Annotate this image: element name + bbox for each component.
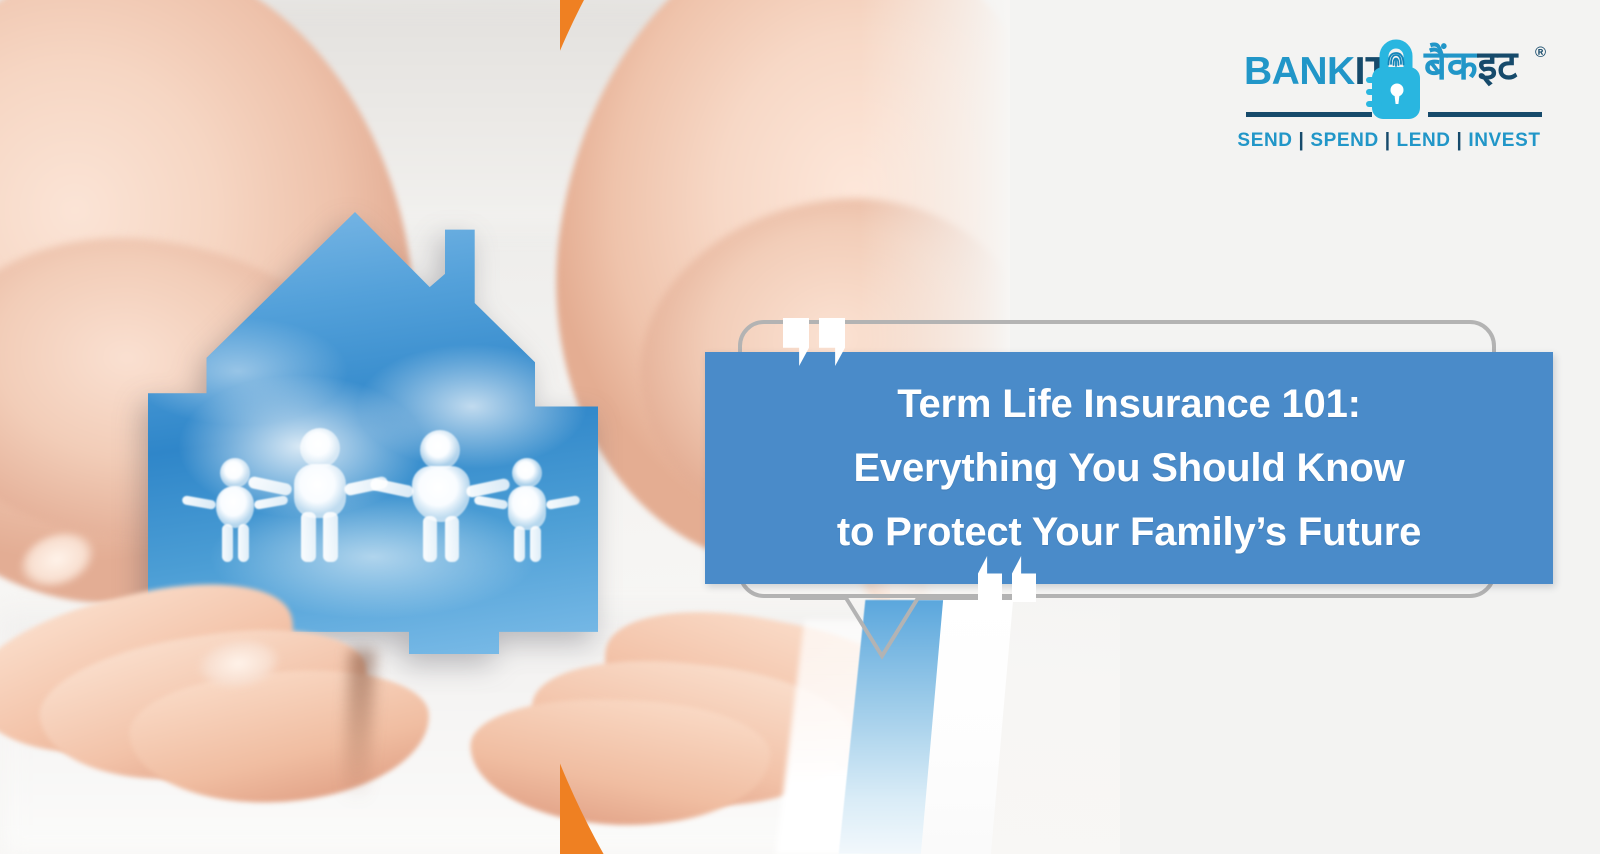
tagline-invest: INVEST <box>1468 130 1540 151</box>
family-figure-adult-left <box>276 428 362 562</box>
logo-hindi-it: इट <box>1478 43 1518 89</box>
title-line-2: Everything You Should Know <box>853 437 1404 499</box>
opening-quote-icon <box>783 318 863 380</box>
logo-underline-right <box>1428 112 1542 117</box>
registered-trademark-icon: ® <box>1535 44 1546 61</box>
title-line-1: Term Life Insurance 101: <box>897 373 1361 435</box>
tagline-separator-1: | <box>1299 130 1305 151</box>
family-figure-adult-right <box>398 430 484 562</box>
logo-wordmark-bank: BANK <box>1244 50 1355 93</box>
cloud-family-figures <box>200 412 560 562</box>
tagline-send: SEND <box>1237 130 1292 151</box>
family-figure-child-right <box>496 458 558 562</box>
insurance-blog-banner: Term Life Insurance 101: Everything You … <box>0 0 1600 854</box>
bankit-logo[interactable]: BANKIT <box>1236 38 1542 160</box>
logo-wordmark-hindi: बैंकइट <box>1424 46 1517 86</box>
closing-quote-icon <box>978 556 1050 614</box>
logo-underline-left <box>1246 112 1372 117</box>
padlock-fingerprint-icon <box>1364 34 1428 126</box>
logo-hindi-bank: बैंक <box>1424 43 1478 89</box>
title-line-3: to Protect Your Family’s Future <box>837 501 1421 563</box>
tagline-separator-3: | <box>1457 130 1463 151</box>
tagline-separator-2: | <box>1385 130 1391 151</box>
logo-wordmark-row: BANKIT <box>1236 38 1542 122</box>
page-title: Term Life Insurance 101: Everything You … <box>705 352 1553 584</box>
logo-tagline: SEND | SPEND | LEND | INVEST <box>1236 130 1542 152</box>
tagline-spend: SPEND <box>1310 130 1378 151</box>
family-figure-child-left <box>204 458 266 562</box>
tagline-lend: LEND <box>1397 130 1451 151</box>
